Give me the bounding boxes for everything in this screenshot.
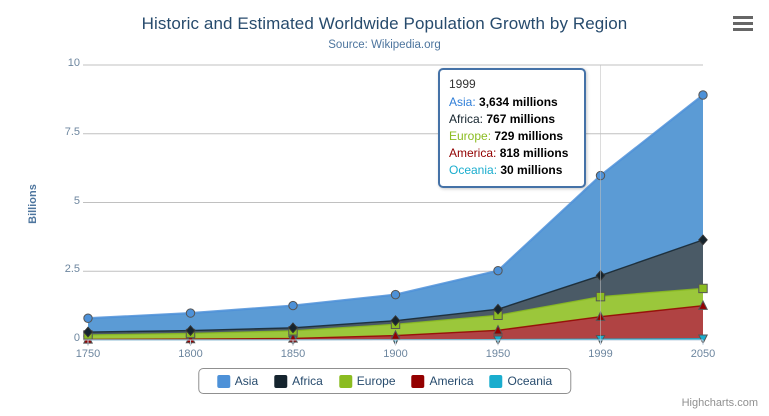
hamburger-menu-icon[interactable] [731, 12, 755, 34]
tooltip-series-value: 767 millions [486, 112, 555, 126]
data-point-asia-1800[interactable] [186, 309, 194, 317]
tooltip-series-value: 3,634 millions [479, 95, 558, 109]
x-axis-label-2050: 2050 [673, 348, 733, 360]
legend-swatch-asia [217, 375, 230, 388]
legend-swatch-oceania [490, 375, 503, 388]
tooltip-series-value: 729 millions [494, 129, 563, 143]
x-axis-label-1999: 1999 [571, 348, 631, 360]
data-point-asia-1900[interactable] [391, 290, 399, 298]
tooltip-header: 1999 [449, 76, 575, 94]
y-axis-label-7.5: 7.5 [28, 126, 80, 138]
y-axis-label-5: 5 [28, 195, 80, 207]
x-axis-label-1900: 1900 [366, 348, 426, 360]
tooltip-row-europe: Europe: 729 millions [449, 128, 575, 145]
legend-swatch-europe [339, 375, 352, 388]
legend-swatch-africa [274, 375, 287, 388]
legend-label: America [430, 374, 474, 388]
chart-legend: AsiaAfricaEuropeAmericaOceania [198, 368, 571, 394]
tooltip-row-america: America: 818 millions [449, 145, 575, 162]
tooltip-series-name: Oceania: [449, 163, 500, 177]
tooltip-series-name: Europe: [449, 129, 494, 143]
data-point-asia-1850[interactable] [289, 301, 297, 309]
x-axis-label-1950: 1950 [468, 348, 528, 360]
legend-label: Asia [235, 374, 258, 388]
tooltip-series-value: 30 millions [500, 163, 562, 177]
legend-item-oceania[interactable]: Oceania [482, 373, 561, 389]
highcharts-credits[interactable]: Highcharts.com [682, 397, 758, 409]
tooltip-row-oceania: Oceania: 30 millions [449, 162, 575, 179]
data-point-asia-1750[interactable] [84, 314, 92, 322]
tooltip-row-africa: Africa: 767 millions [449, 111, 575, 128]
data-point-asia-1950[interactable] [494, 266, 502, 274]
y-axis-label-2.5: 2.5 [28, 263, 80, 275]
tooltip-series-name: Asia: [449, 95, 479, 109]
y-axis-label-0: 0 [28, 332, 80, 344]
chart-tooltip: 1999 Asia: 3,634 millionsAfrica: 767 mil… [438, 68, 586, 188]
x-axis-label-1800: 1800 [161, 348, 221, 360]
legend-item-europe[interactable]: Europe [331, 373, 404, 389]
legend-label: Oceania [508, 374, 553, 388]
legend-label: Europe [357, 374, 396, 388]
legend-label: Africa [292, 374, 323, 388]
legend-item-america[interactable]: America [404, 373, 482, 389]
hamburger-bar-2 [733, 22, 753, 25]
tooltip-series-name: America: [449, 146, 500, 160]
hamburger-bar-3 [733, 28, 753, 31]
legend-swatch-america [412, 375, 425, 388]
y-axis-label-10: 10 [28, 57, 80, 69]
highcharts-chart-container: Historic and Estimated Worldwide Populat… [0, 0, 769, 416]
hamburger-bar-1 [733, 16, 753, 19]
tooltip-row-asia: Asia: 3,634 millions [449, 94, 575, 111]
data-point-asia-2050[interactable] [699, 91, 707, 99]
data-point-europe-2050[interactable] [699, 284, 707, 292]
x-axis-label-1850: 1850 [263, 348, 323, 360]
x-axis-label-1750: 1750 [58, 348, 118, 360]
legend-item-africa[interactable]: Africa [266, 373, 331, 389]
tooltip-series-value: 818 millions [500, 146, 569, 160]
legend-item-asia[interactable]: Asia [209, 373, 266, 389]
tooltip-rows: Asia: 3,634 millionsAfrica: 767 millions… [449, 94, 575, 179]
chart-subtitle: Source: Wikipedia.org [0, 39, 769, 51]
tooltip-series-name: Africa: [449, 112, 486, 126]
chart-title: Historic and Estimated Worldwide Populat… [0, 14, 769, 34]
